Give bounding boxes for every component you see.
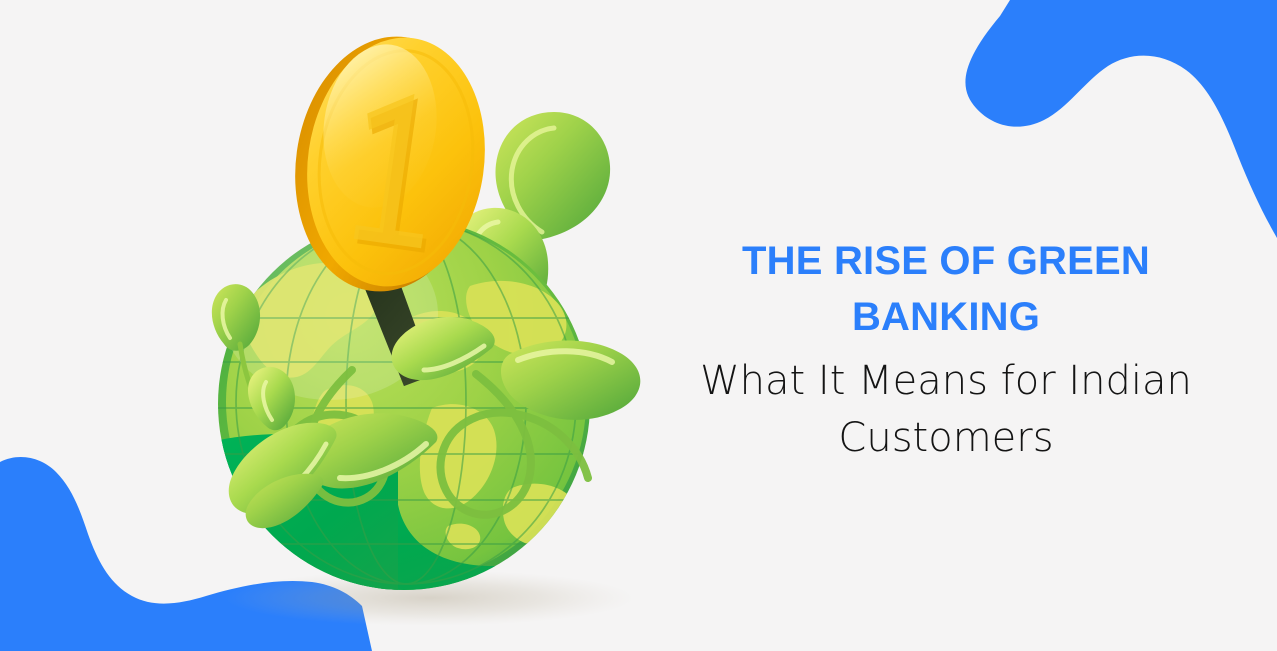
subhead-line-1: What It Means for Indian xyxy=(700,358,1192,404)
headline-line-1: THE RISE OF GREEN xyxy=(742,239,1150,283)
headline-line-2: BANKING xyxy=(852,295,1040,339)
headline-block: THE RISE OF GREEN BANKING What It Means … xyxy=(672,233,1220,467)
blue-wave-top-right xyxy=(965,0,1277,238)
subhead-line-2: Customers xyxy=(838,415,1053,461)
globe-piggy-bank-illustration xyxy=(140,18,660,628)
green-banking-banner: THE RISE OF GREEN BANKING What It Means … xyxy=(0,0,1277,651)
page-title: THE RISE OF GREEN BANKING xyxy=(672,233,1220,345)
page-subtitle: What It Means for Indian Customers xyxy=(672,353,1220,467)
